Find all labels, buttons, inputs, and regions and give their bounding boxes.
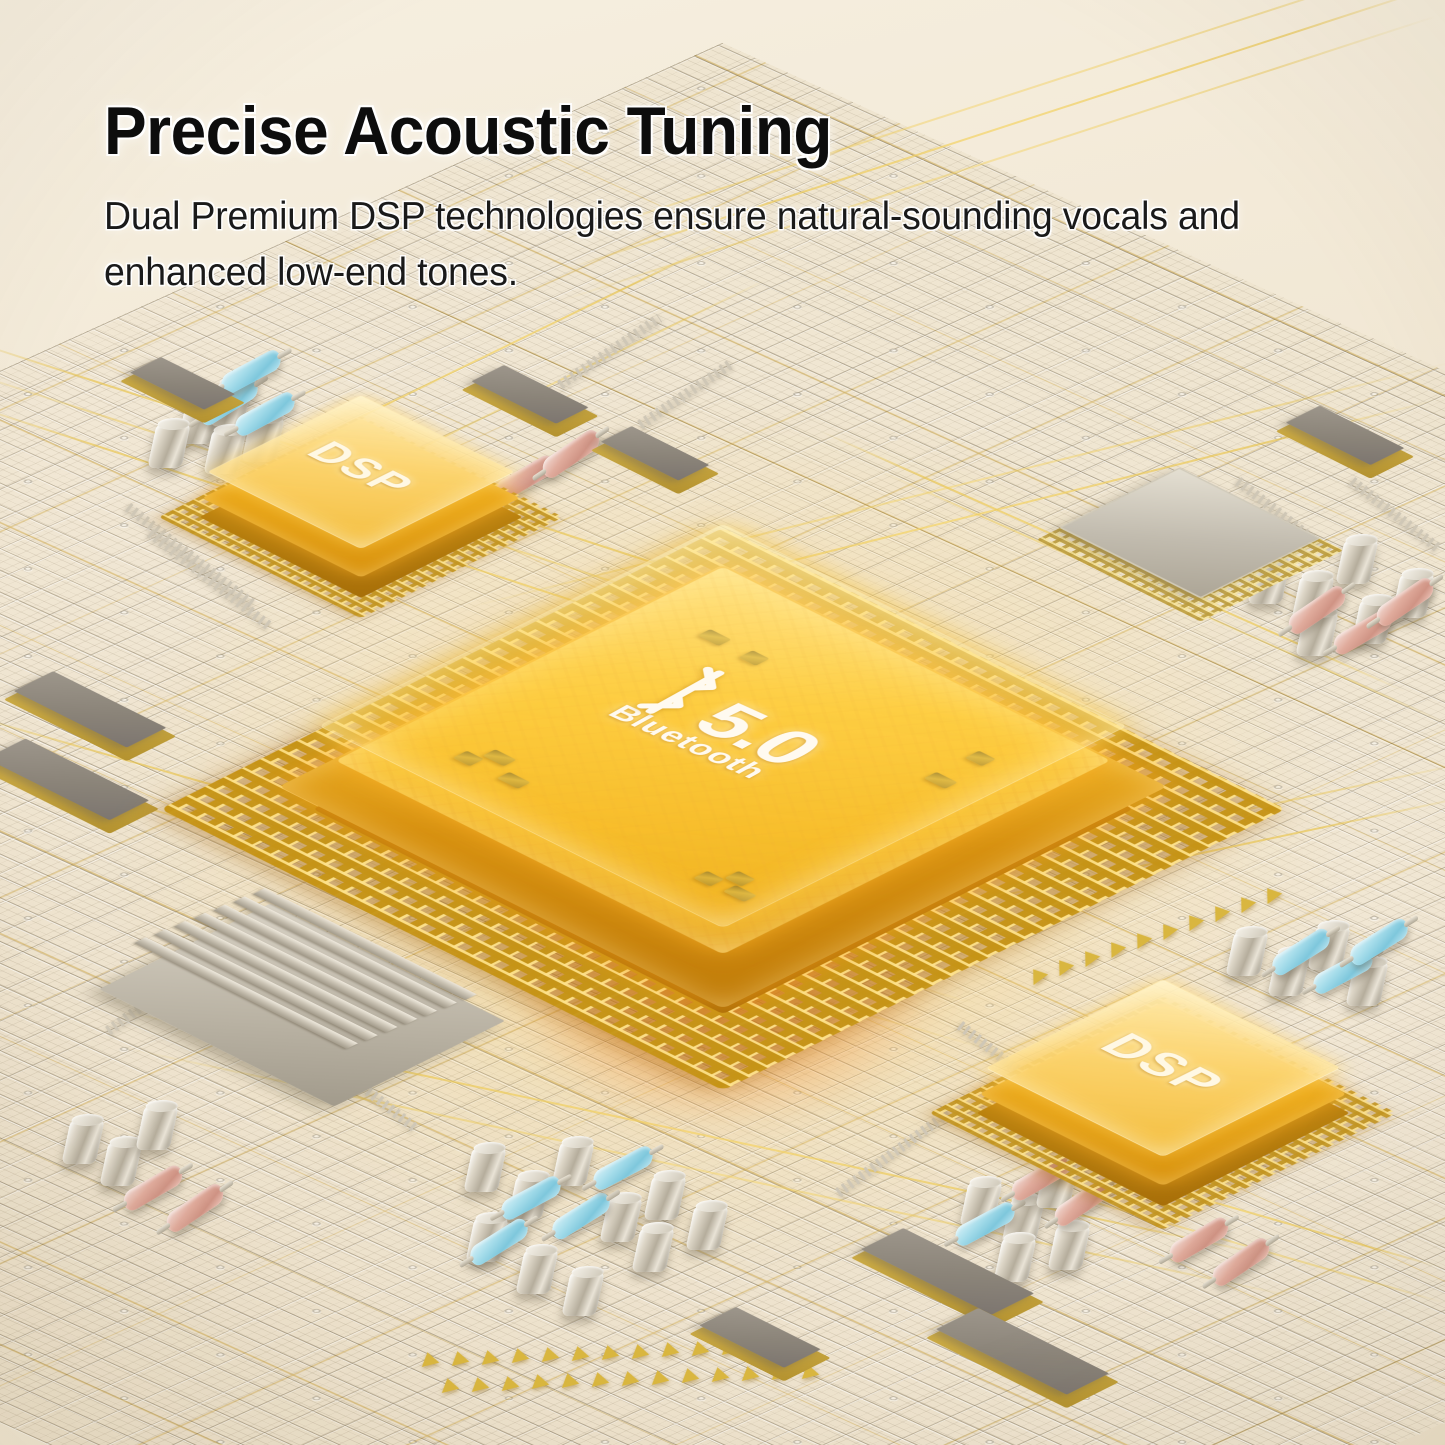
product-feature-image: DSP DSP 5.0 Bluetooth Precise Acoustic T… (0, 0, 1445, 1445)
bluetooth-chip: 5.0 Bluetooth (327, 611, 1119, 1007)
